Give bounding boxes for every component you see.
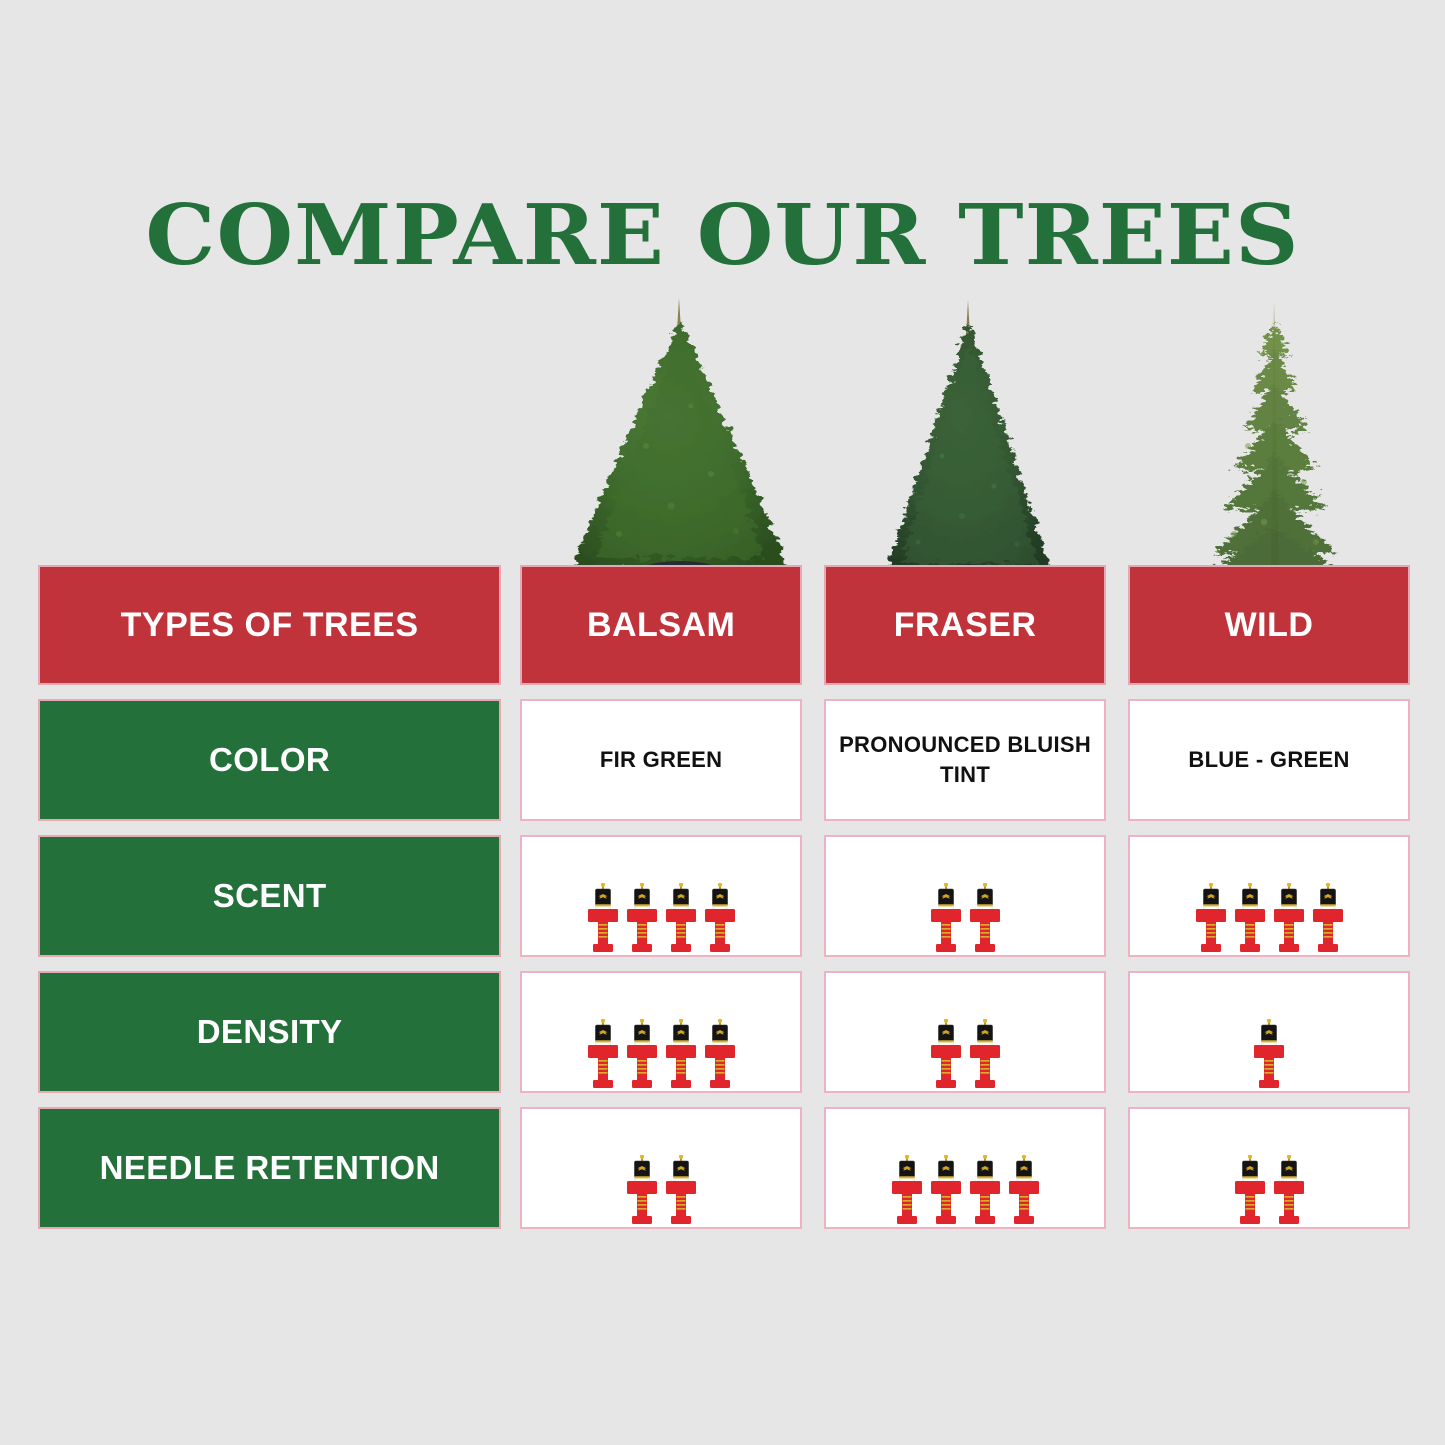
fraser-fir-tree-photo — [862, 296, 1077, 601]
density-rating-wild — [1128, 971, 1410, 1093]
nutcracker-icon — [586, 1019, 620, 1091]
nutcracker-icon — [625, 1155, 659, 1227]
scent-rating-wild — [1128, 835, 1410, 957]
nutcracker-icon — [968, 883, 1002, 955]
row-label-color: COLOR — [38, 699, 501, 821]
nutcracker-icon — [968, 1155, 1002, 1227]
nutcracker-icon — [1007, 1155, 1041, 1227]
table-row-density: DENSITY — [38, 971, 1410, 1093]
rating-group — [929, 973, 1002, 1091]
table-row-color: COLOR FIR GREEN PRONOUNCED BLUISH TINT B… — [38, 699, 1410, 821]
nutcracker-icon — [664, 1019, 698, 1091]
nutcracker-icon — [703, 883, 737, 955]
nutcracker-icon — [664, 1155, 698, 1227]
scent-rating-fraser — [824, 835, 1106, 957]
density-rating-fraser — [824, 971, 1106, 1093]
header-column-balsam[interactable]: BALSAM — [520, 565, 802, 685]
nutcracker-icon — [1233, 883, 1267, 955]
rating-group — [586, 973, 737, 1091]
table-row-scent: SCENT — [38, 835, 1410, 957]
header-types-of-trees: TYPES OF TREES — [38, 565, 501, 685]
nutcracker-icon — [890, 1155, 924, 1227]
row-label-scent: SCENT — [38, 835, 501, 957]
table-row-needle-retention: NEEDLE RETENTION — [38, 1107, 1410, 1229]
rating-group — [625, 1109, 698, 1227]
density-rating-balsam — [520, 971, 802, 1093]
row-label-needle-retention: NEEDLE RETENTION — [38, 1107, 501, 1229]
nutcracker-icon — [664, 883, 698, 955]
header-column-wild[interactable]: WILD — [1128, 565, 1410, 685]
nutcracker-icon — [1311, 883, 1345, 955]
table-header-row: TYPES OF TREES BALSAM FRASER WILD — [38, 565, 1410, 685]
nutcracker-icon — [929, 1155, 963, 1227]
rating-group — [1233, 1109, 1306, 1227]
nutcracker-icon — [1252, 1019, 1286, 1091]
nutcracker-icon — [929, 883, 963, 955]
comparison-table: TYPES OF TREES BALSAM FRASER WILD COLOR … — [38, 565, 1410, 1243]
needle-retention-rating-balsam — [520, 1107, 802, 1229]
nutcracker-icon — [1233, 1155, 1267, 1227]
rating-group — [1252, 973, 1286, 1091]
rating-group — [1194, 837, 1345, 955]
balsam-fir-tree-photo — [551, 296, 811, 601]
needle-retention-rating-wild — [1128, 1107, 1410, 1229]
rating-group — [586, 837, 737, 955]
nutcracker-icon — [625, 1019, 659, 1091]
nutcracker-icon — [586, 883, 620, 955]
nutcracker-icon — [968, 1019, 1002, 1091]
nutcracker-icon — [929, 1019, 963, 1091]
nutcracker-icon — [625, 883, 659, 955]
color-value-fraser: PRONOUNCED BLUISH TINT — [824, 699, 1106, 821]
rating-group — [929, 837, 1002, 955]
header-column-fraser[interactable]: FRASER — [824, 565, 1106, 685]
rating-group — [890, 1109, 1041, 1227]
wild-tree-photo — [1186, 296, 1366, 601]
color-value-balsam: FIR GREEN — [520, 699, 802, 821]
row-label-density: DENSITY — [38, 971, 501, 1093]
nutcracker-icon — [703, 1019, 737, 1091]
nutcracker-icon — [1194, 883, 1228, 955]
nutcracker-icon — [1272, 883, 1306, 955]
color-value-wild: BLUE - GREEN — [1128, 699, 1410, 821]
needle-retention-rating-fraser — [824, 1107, 1106, 1229]
page-title: COMPARE OUR TREES — [0, 186, 1445, 284]
scent-rating-balsam — [520, 835, 802, 957]
nutcracker-icon — [1272, 1155, 1306, 1227]
